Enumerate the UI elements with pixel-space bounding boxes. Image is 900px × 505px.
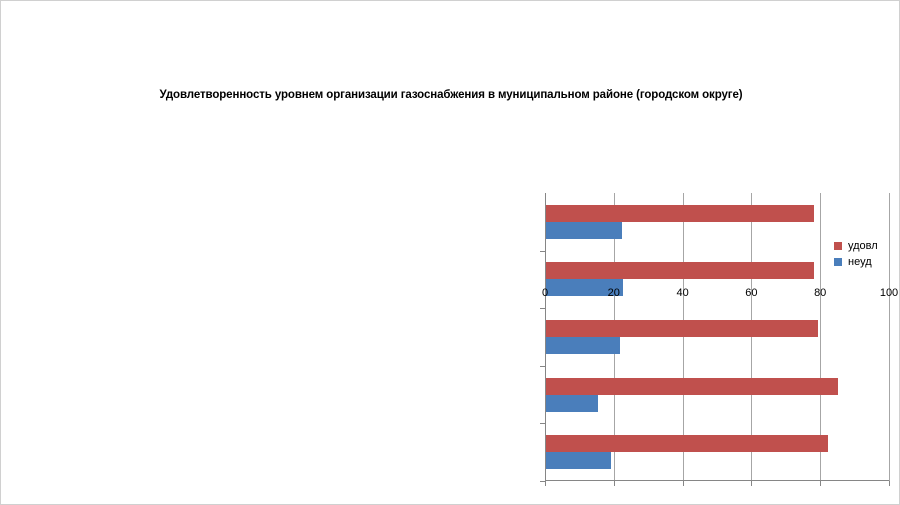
bar-neud — [546, 395, 598, 412]
y-axis-tick — [540, 423, 545, 424]
chart-legend: удовлнеуд — [834, 238, 900, 270]
bar-udovl — [546, 378, 838, 395]
bar-udovl — [546, 320, 818, 337]
x-axis-tick — [545, 481, 546, 486]
legend-label: удовл — [848, 240, 878, 252]
y-axis-tick — [540, 251, 545, 252]
x-axis-line — [545, 480, 889, 481]
y-axis-tick — [540, 366, 545, 367]
x-axis-tick — [889, 481, 890, 486]
legend-label: неуд — [848, 256, 872, 268]
x-axis-tick-label: 20 — [608, 287, 620, 299]
gridline — [889, 193, 890, 481]
bar-udovl — [546, 435, 828, 452]
x-axis-tick — [614, 481, 615, 486]
chart-container: Удовлетворенность уровнем организации га… — [0, 0, 900, 505]
bar-udovl — [546, 262, 814, 279]
x-axis-tick-label: 0 — [542, 287, 548, 299]
x-axis-tick-label: 40 — [676, 287, 688, 299]
x-axis-tick-label: 60 — [745, 287, 757, 299]
x-axis-tick — [820, 481, 821, 486]
x-axis-tick — [683, 481, 684, 486]
bar-udovl — [546, 205, 814, 222]
chart-title: Удовлетворенность уровнем организации га… — [1, 89, 900, 101]
y-axis-tick — [540, 308, 545, 309]
legend-item: неуд — [834, 254, 900, 270]
plot-area — [545, 193, 889, 481]
bar-neud — [546, 337, 620, 354]
y-axis-tick — [540, 481, 545, 482]
bar-neud — [546, 452, 611, 469]
x-axis-tick-label: 80 — [814, 287, 826, 299]
x-axis-tick — [751, 481, 752, 486]
legend-item: удовл — [834, 238, 900, 254]
bar-neud — [546, 222, 622, 239]
x-axis-tick-label: 100 — [880, 287, 898, 299]
legend-swatch-icon — [834, 242, 842, 250]
legend-swatch-icon — [834, 258, 842, 266]
